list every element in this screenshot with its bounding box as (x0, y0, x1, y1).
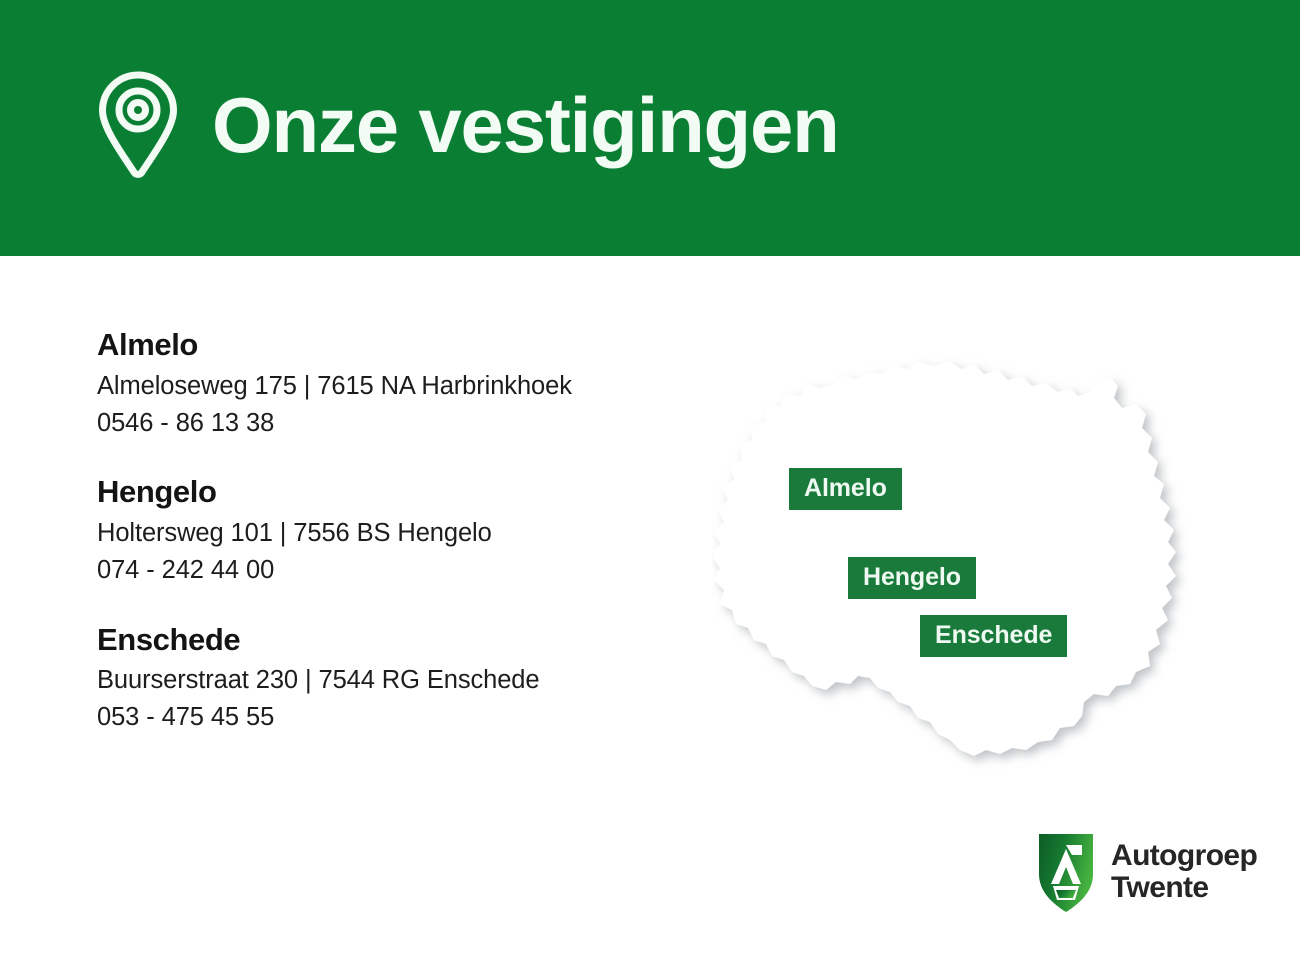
brand-logo-text: Autogroep Twente (1111, 840, 1257, 904)
brand-line-1: Autogroep (1111, 840, 1257, 872)
location-name: Almelo (97, 326, 717, 364)
map-pin-icon (96, 69, 180, 181)
brand-logo: Autogroep Twente (1035, 830, 1257, 914)
location-item-hengelo: Hengelo Holtersweg 101 | 7556 BS Hengelo… (97, 473, 717, 588)
location-address: Holtersweg 101 | 7556 BS Hengelo (97, 515, 717, 552)
page-header: Onze vestigingen (0, 0, 1300, 256)
location-phone: 074 - 242 44 00 (97, 552, 717, 589)
location-item-enschede: Enschede Buurserstraat 230 | 7544 RG Ens… (97, 621, 717, 736)
map-label-almelo[interactable]: Almelo (789, 468, 902, 510)
brand-line-2: Twente (1111, 872, 1257, 904)
location-phone: 0546 - 86 13 38 (97, 405, 717, 442)
shield-a-icon (1035, 830, 1097, 914)
location-address: Almeloseweg 175 | 7615 NA Harbrinkhoek (97, 368, 717, 405)
map-label-hengelo[interactable]: Hengelo (848, 557, 976, 599)
location-name: Enschede (97, 621, 717, 659)
twente-region-map: Almelo Hengelo Enschede (712, 352, 1212, 782)
location-address: Buurserstraat 230 | 7544 RG Enschede (97, 662, 717, 699)
locations-list: Almelo Almeloseweg 175 | 7615 NA Harbrin… (97, 326, 717, 736)
location-item-almelo: Almelo Almeloseweg 175 | 7615 NA Harbrin… (97, 326, 717, 441)
page-title: Onze vestigingen (212, 86, 839, 164)
map-label-enschede[interactable]: Enschede (920, 615, 1067, 657)
location-name: Hengelo (97, 473, 717, 511)
location-phone: 053 - 475 45 55 (97, 699, 717, 736)
